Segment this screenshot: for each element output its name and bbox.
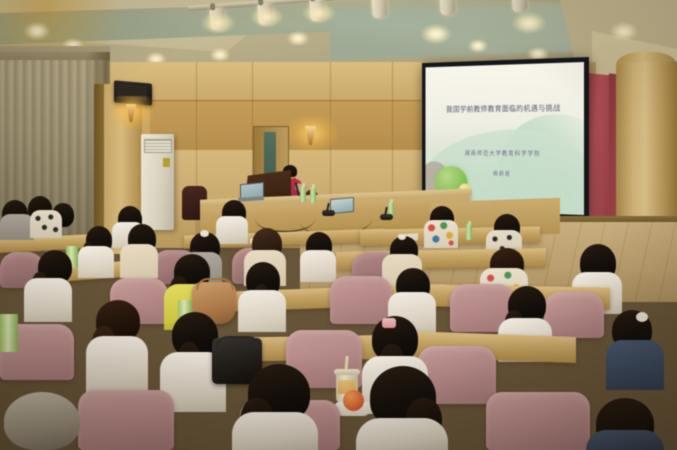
hair-clip-icon <box>636 312 648 322</box>
audience-torso <box>86 336 148 394</box>
hair-clip-icon <box>382 318 396 328</box>
water-bottle-icon <box>300 186 306 202</box>
cup-lid <box>334 369 360 375</box>
track-spotlight-icon <box>439 0 455 15</box>
auditorium-seat <box>330 276 392 324</box>
ceiling-downlight <box>610 22 638 41</box>
ceiling-downlight <box>24 22 50 40</box>
hair-clip-icon <box>398 234 406 240</box>
audience-torso <box>606 340 664 390</box>
auditorium-seat <box>544 292 604 338</box>
audience-torso <box>78 246 114 278</box>
audience-torso <box>120 244 158 278</box>
wall-seam <box>196 62 197 248</box>
handbag-strap <box>196 278 234 290</box>
auditorium-seat <box>78 390 174 450</box>
slide-title: 我国学前教师教育面临的机遇与挑战 <box>425 102 584 115</box>
microphone-icon <box>292 178 297 183</box>
audience-torso <box>300 250 336 282</box>
audience-torso <box>24 278 72 322</box>
track-spotlight-icon <box>371 0 387 18</box>
audience-torso <box>586 430 664 450</box>
ceiling-downlight <box>287 31 309 46</box>
audience-torso <box>30 210 62 238</box>
audience-torso <box>238 290 286 332</box>
slide-organization: 湖南师范大学教育科学学院 <box>425 148 584 158</box>
auditorium-seat <box>486 392 590 450</box>
audience-torso <box>356 418 448 450</box>
air-conditioner-badge <box>163 158 170 167</box>
ceiling-downlight <box>421 24 451 44</box>
bag-strap <box>216 336 260 348</box>
desk-microphone-icon <box>380 214 393 220</box>
track-spotlight-icon <box>511 0 527 12</box>
juice-carton-icon <box>0 314 18 352</box>
audience-torso <box>216 216 248 244</box>
air-conditioner-vent <box>144 139 172 153</box>
audience-torso <box>232 412 318 450</box>
audience-torso <box>424 220 458 248</box>
ceiling-downlight <box>210 48 230 62</box>
audience-torso <box>0 214 34 240</box>
lecture-hall-photo: 我国学前教师教育面临的机遇与挑战 湖南师范大学教育科学学院 杨莉君 <box>0 0 677 450</box>
spotlight-glow <box>302 3 336 23</box>
ceiling-downlight <box>468 39 488 53</box>
ceiling-downlight <box>512 12 546 34</box>
spotlight-glow <box>250 7 284 27</box>
spotlight-glow <box>200 12 236 34</box>
water-bottle-icon <box>310 187 316 203</box>
apple-icon <box>343 390 364 411</box>
water-bottle-icon <box>466 224 472 240</box>
hair-clip-icon <box>200 230 209 237</box>
audience-head <box>4 392 80 450</box>
